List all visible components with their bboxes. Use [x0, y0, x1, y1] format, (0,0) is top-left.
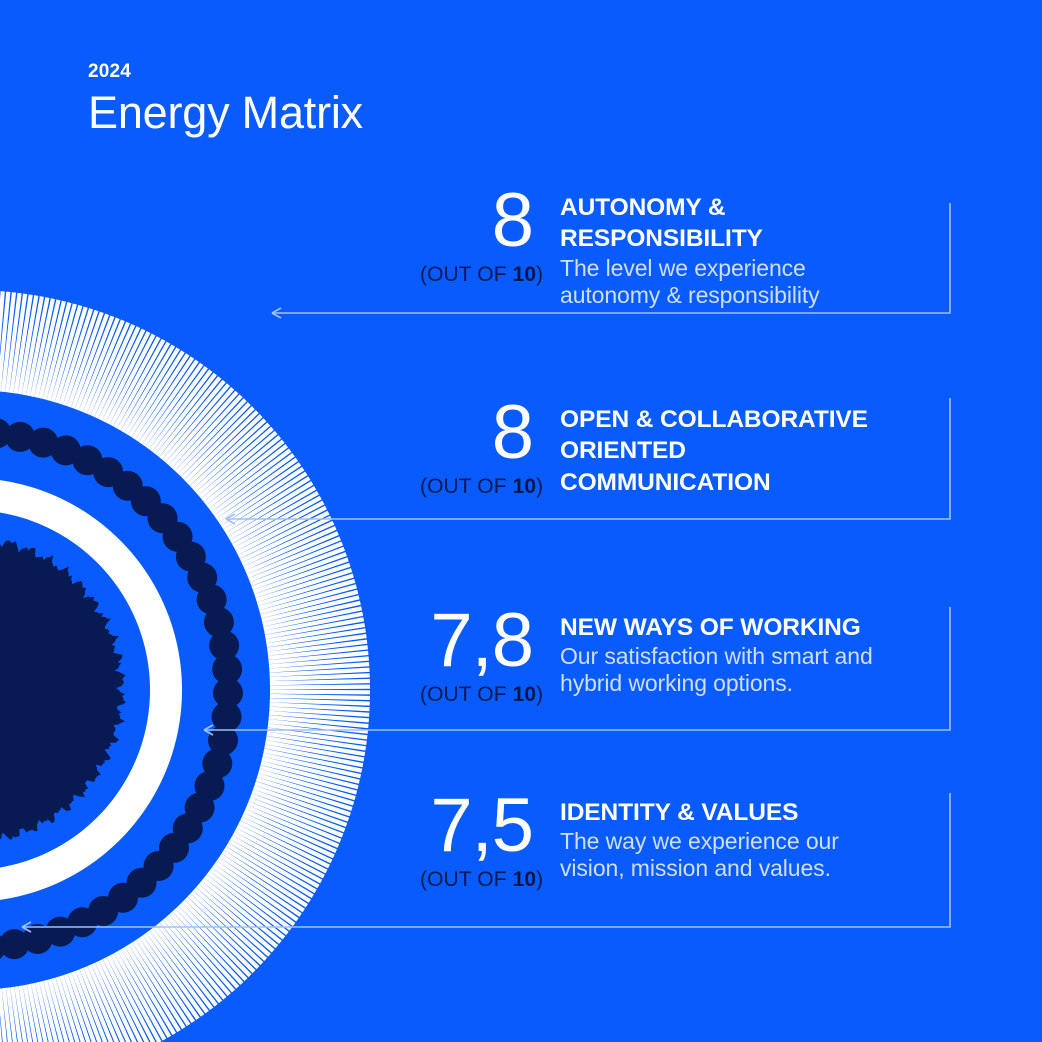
- out-of-value: 10: [513, 263, 537, 286]
- metric-title: IDENTITY & VALUES: [560, 797, 900, 828]
- infographic-canvas: 2024 Energy Matrix 8 (OUT OF 10) AUTONOM…: [0, 0, 1042, 1042]
- out-of-value: 10: [513, 868, 537, 891]
- out-of-value: 10: [513, 683, 537, 706]
- text-column: NEW WAYS OF WORKING Our satisfaction wit…: [560, 608, 940, 698]
- score-out-of: (OUT OF 10): [420, 476, 533, 497]
- metric-title: AUTONOMY & RESPONSIBILITY: [560, 192, 900, 255]
- out-of-prefix: (OUT OF: [420, 263, 513, 286]
- out-of-prefix: (OUT OF: [420, 868, 513, 891]
- out-of-prefix: (OUT OF: [420, 683, 513, 706]
- score-value: 7,8: [420, 608, 533, 675]
- metric-description: Our satisfaction with smart and hybrid w…: [560, 643, 890, 697]
- metric-description: The level we experience autonomy & respo…: [560, 255, 890, 309]
- out-of-suffix: ): [536, 868, 543, 891]
- metric-title: OPEN & COLLABORATIVE ORIENTED COMMUNICAT…: [560, 404, 900, 498]
- score-out-of: (OUT OF 10): [420, 264, 533, 285]
- metric-description: The way we experience our vision, missio…: [560, 828, 890, 882]
- metrics-list: 8 (OUT OF 10) AUTONOMY & RESPONSIBILITY …: [0, 0, 1042, 1042]
- score-column: 7,8 (OUT OF 10): [420, 608, 560, 705]
- score-column: 8 (OUT OF 10): [420, 188, 560, 285]
- score-value: 8: [420, 400, 533, 467]
- text-column: AUTONOMY & RESPONSIBILITY The level we e…: [560, 188, 940, 309]
- score-out-of: (OUT OF 10): [420, 869, 533, 890]
- score-column: 8 (OUT OF 10): [420, 400, 560, 497]
- score-column: 7,5 (OUT OF 10): [420, 793, 560, 890]
- score-value: 7,5: [420, 793, 533, 860]
- text-column: OPEN & COLLABORATIVE ORIENTED COMMUNICAT…: [560, 400, 940, 498]
- score-value: 8: [420, 188, 533, 255]
- metric-title: NEW WAYS OF WORKING: [560, 612, 900, 643]
- out-of-prefix: (OUT OF: [420, 475, 513, 498]
- score-out-of: (OUT OF 10): [420, 684, 533, 705]
- out-of-suffix: ): [536, 475, 543, 498]
- out-of-value: 10: [513, 475, 537, 498]
- out-of-suffix: ): [536, 683, 543, 706]
- text-column: IDENTITY & VALUES The way we experience …: [560, 793, 940, 883]
- out-of-suffix: ): [536, 263, 543, 286]
